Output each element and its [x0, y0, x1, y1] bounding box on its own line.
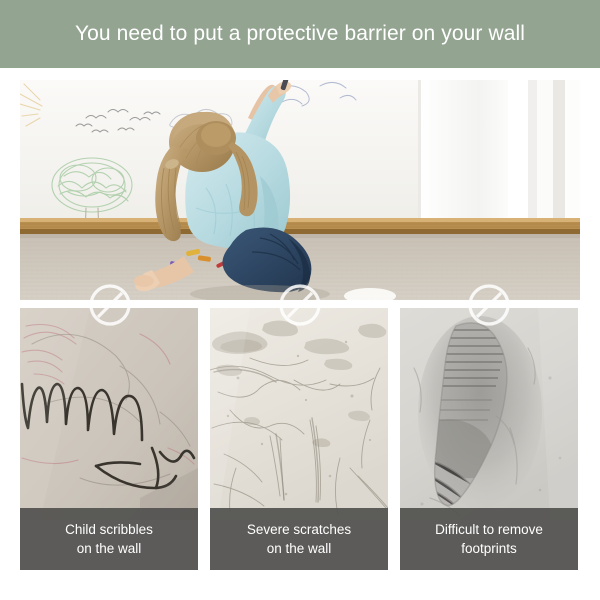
no-entry-icon — [468, 284, 510, 326]
no-entry-icon — [89, 284, 131, 326]
severe-scratches-image — [210, 308, 388, 520]
severe-scratches-panel: Severe scratches on the wall — [210, 308, 388, 570]
no-entry-icon-glyph — [279, 284, 321, 326]
footprint-smudge-image — [400, 308, 578, 520]
panel-caption: Severe scratches on the wall — [210, 508, 388, 570]
panel-caption-line1: Severe scratches — [247, 520, 351, 539]
panel-caption-line2: footprints — [461, 539, 517, 558]
panel-caption-line1: Difficult to remove — [435, 520, 543, 539]
page-title: You need to put a protective barrier on … — [75, 22, 525, 46]
child-scribbles-panel: Child scribbles on the wall — [20, 308, 198, 570]
no-entry-icon — [279, 284, 321, 326]
panel-caption: Child scribbles on the wall — [20, 508, 198, 570]
difficult-footprints-panel: Difficult to remove footprints — [400, 308, 578, 570]
panel-caption-line2: on the wall — [267, 539, 332, 558]
header-banner: You need to put a protective barrier on … — [0, 0, 600, 68]
child-scribbles-image — [20, 308, 198, 520]
panel-caption-line1: Child scribbles — [65, 520, 153, 539]
hero-photo-illustration — [20, 80, 580, 300]
panel-caption-line2: on the wall — [77, 539, 142, 558]
problem-panels-row: Child scribbles on the wall — [20, 308, 578, 570]
no-entry-icon-glyph — [468, 284, 510, 326]
hero-photo — [20, 80, 580, 300]
promo-infographic: You need to put a protective barrier on … — [0, 0, 600, 600]
panel-caption: Difficult to remove footprints — [400, 508, 578, 570]
no-entry-icon-glyph — [89, 284, 131, 326]
